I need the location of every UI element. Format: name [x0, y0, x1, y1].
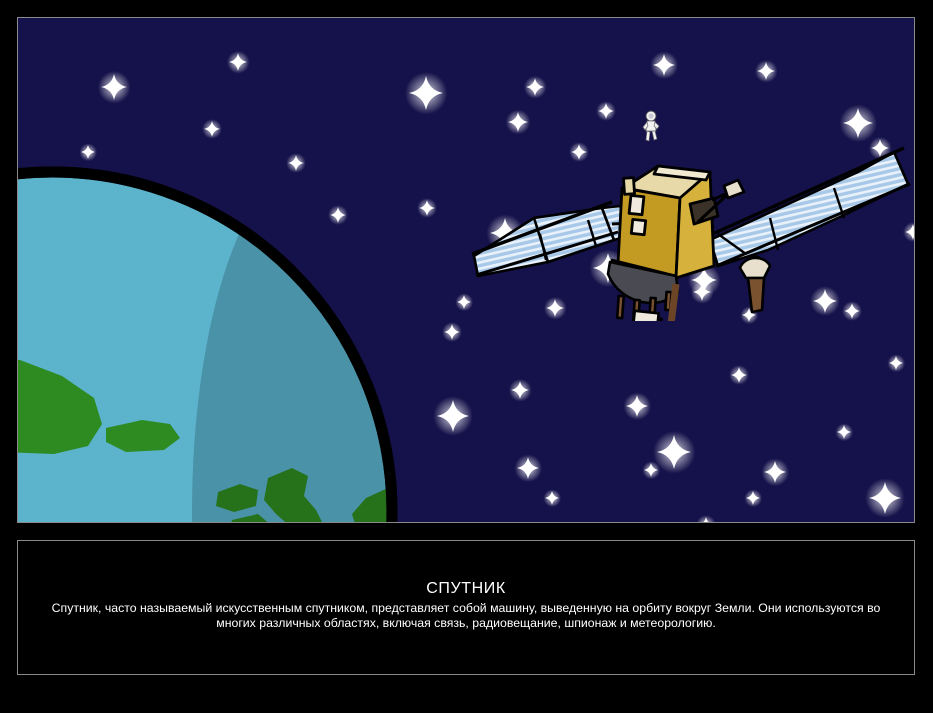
astronaut-leg-left	[646, 131, 650, 141]
caption-title: СПУТНИК	[426, 579, 506, 599]
caption-panel: СПУТНИК Спутник, часто называемый искусс…	[17, 540, 915, 675]
communications-satellite	[462, 136, 915, 321]
sensor-box-2	[631, 219, 645, 234]
antenna-horn	[690, 198, 718, 224]
storyboard-cell: СПУТНИК Спутник, часто называемый искусс…	[0, 0, 933, 713]
caption-body: Спутник, часто называемый искусственным …	[33, 601, 899, 631]
sensor-box-1	[629, 195, 644, 214]
floating-astronaut	[640, 110, 662, 144]
earth-globe	[17, 162, 402, 523]
astronaut-leg-right	[652, 131, 657, 140]
engine-bell	[633, 311, 658, 321]
sensor-box-3	[623, 178, 634, 195]
illustration-panel	[17, 17, 915, 523]
